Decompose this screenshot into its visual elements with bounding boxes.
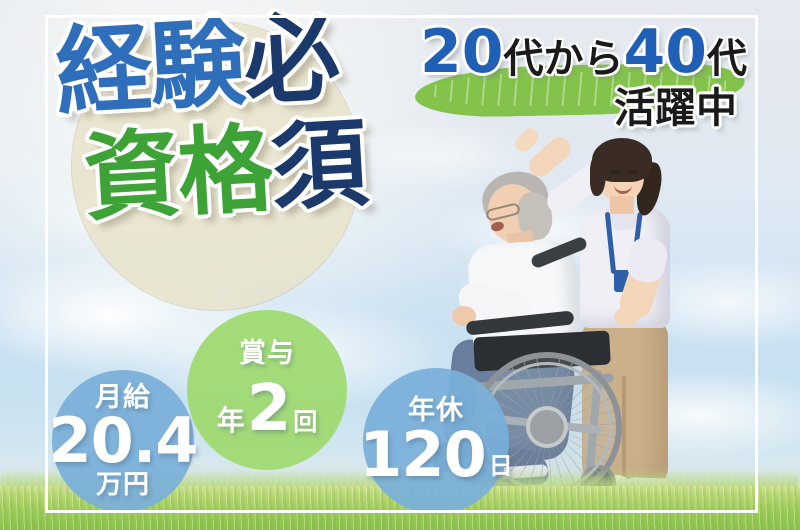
headline-line-2: 資格須 [81,111,462,226]
stat-badge-monthly-salary: 月給 20.4 万円 [52,370,194,512]
headline-segment-navy-2: 須 [269,116,368,215]
stat-suffix-annual-holidays: 日 [489,446,513,481]
stat-value-row-bonus: 年2回 [217,379,318,440]
headline-segment-navy: 必 [241,10,340,109]
age-kana-kara: 代から [504,39,624,79]
age-number-40: 40 [624,22,708,82]
caregiver-eye [628,170,639,175]
stat-value-monthly-salary: 20.4 [49,412,198,471]
stat-badge-annual-holidays: 年休 120日 [363,368,509,514]
headline-segment-green: 資格 [81,122,274,226]
pointing-hand-icon [512,125,541,155]
active-status-text: 活躍中 [614,88,737,129]
job-ad-banner: 経験必 資格須 20代から40代 活躍中 月給 20.4 万円 賞与 年2回 年… [0,0,800,530]
headline-line-1: 経験必 [53,4,462,120]
stat-unit-monthly-salary: 万円 [96,472,150,498]
stat-label-bonus: 賞与 [239,340,295,367]
stat-value-bonus: 2 [247,379,292,440]
headline: 経験必 資格須 [40,26,460,226]
age-kana-dai: 代 [707,39,747,79]
caregiver-neck [610,196,634,214]
stat-suffix-bonus: 回 [293,402,317,437]
age-number-20: 20 [420,22,504,82]
stat-value-annual-holidays: 120 [359,426,485,485]
stat-prefix-bonus: 年 [217,399,245,439]
headline-segment-blue: 経験 [53,16,246,120]
stat-value-row-annual-holidays: 120日 [359,426,512,485]
age-range-text: 20代から40代 [420,22,747,82]
stat-badge-bonus: 賞与 年2回 [187,310,347,470]
